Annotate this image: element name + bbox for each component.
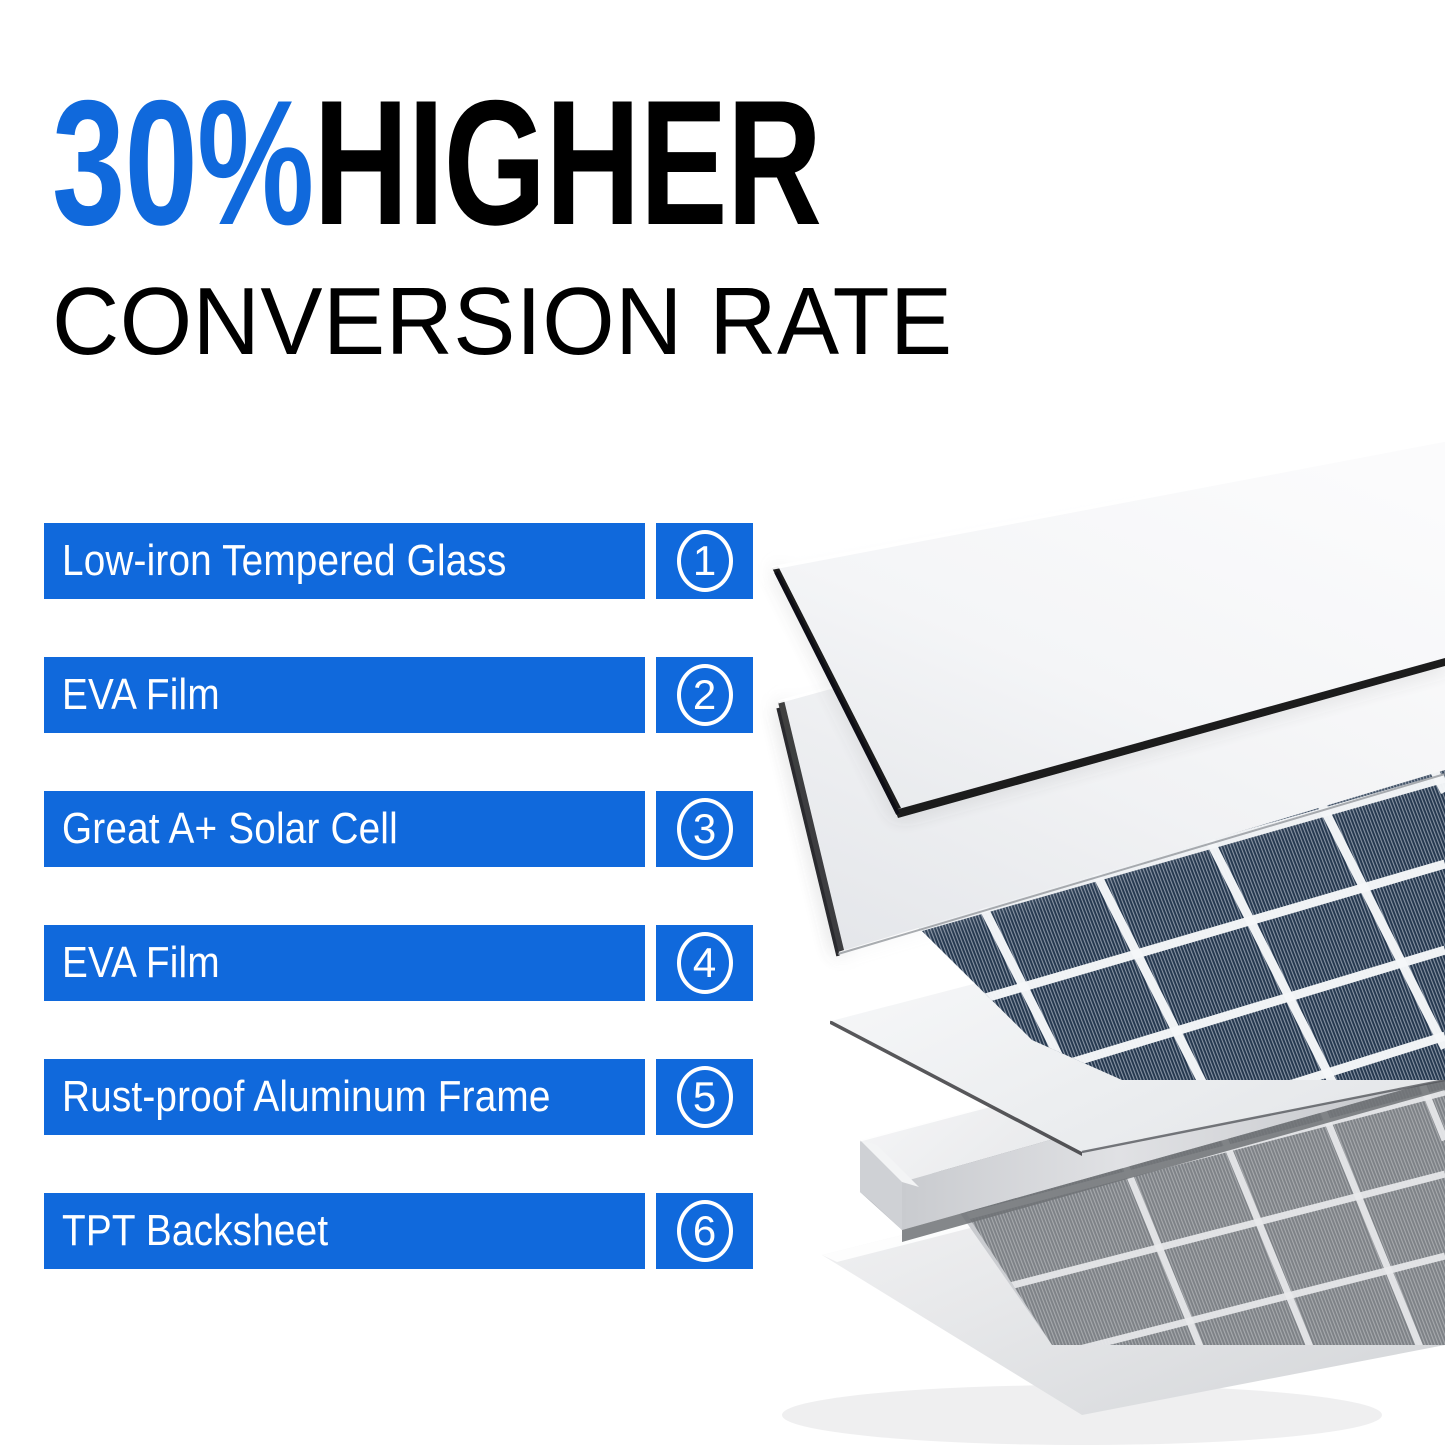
layer-label-text-4: EVA Film — [62, 940, 220, 986]
layer-row-2[interactable]: EVA Film 2 — [44, 657, 754, 733]
layer-badge-5[interactable]: 5 — [656, 1059, 753, 1135]
layer-row-3[interactable]: Great A+ Solar Cell 3 — [44, 791, 754, 867]
infographic-canvas: 30%HIGHER CONVERSION RATE Low-iron Tempe… — [0, 0, 1445, 1445]
layer-label-list: Low-iron Tempered Glass 1 EVA Film 2 Gre… — [44, 523, 754, 1269]
layer-badge-4[interactable]: 4 — [656, 925, 753, 1001]
layer-badge-1[interactable]: 1 — [656, 523, 753, 599]
layer-label-bar-4[interactable]: EVA Film — [44, 925, 645, 1001]
layer-badge-number-2: 2 — [677, 664, 733, 726]
layer-row-6[interactable]: TPT Backsheet 6 — [44, 1193, 754, 1269]
layer-label-bar-1[interactable]: Low-iron Tempered Glass — [44, 523, 645, 599]
headline-block: 30%HIGHER CONVERSION RATE — [52, 78, 1012, 372]
layer-row-4[interactable]: EVA Film 4 — [44, 925, 754, 1001]
headline-primary: 30%HIGHER — [52, 78, 762, 248]
layer-badge-6[interactable]: 6 — [656, 1193, 753, 1269]
headline-word: HIGHER — [313, 63, 821, 262]
layer-badge-number-5: 5 — [677, 1066, 733, 1128]
headline-subline: CONVERSION RATE — [52, 272, 983, 372]
layer-label-text-2: EVA Film — [62, 672, 220, 718]
layer-label-bar-3[interactable]: Great A+ Solar Cell — [44, 791, 645, 867]
layer-label-bar-6[interactable]: TPT Backsheet — [44, 1193, 645, 1269]
layer-badge-number-3: 3 — [677, 798, 733, 860]
layer-label-text-1: Low-iron Tempered Glass — [62, 538, 507, 584]
layer-label-text-3: Great A+ Solar Cell — [62, 806, 398, 852]
layer-label-bar-5[interactable]: Rust-proof Aluminum Frame — [44, 1059, 645, 1135]
layer-badge-number-4: 4 — [677, 932, 733, 994]
layer-label-text-6: TPT Backsheet — [62, 1208, 328, 1254]
layer-badge-2[interactable]: 2 — [656, 657, 753, 733]
layer-badge-number-6: 6 — [677, 1200, 733, 1262]
headline-percent: 30% — [52, 63, 313, 262]
layer-badge-3[interactable]: 3 — [656, 791, 753, 867]
layer-label-bar-2[interactable]: EVA Film — [44, 657, 645, 733]
layer-row-5[interactable]: Rust-proof Aluminum Frame 5 — [44, 1059, 754, 1135]
layer-label-text-5: Rust-proof Aluminum Frame — [62, 1074, 551, 1120]
exploded-solar-panel-diagram — [752, 440, 1445, 1445]
layer-row-1[interactable]: Low-iron Tempered Glass 1 — [44, 523, 754, 599]
layer-badge-number-1: 1 — [677, 530, 733, 592]
